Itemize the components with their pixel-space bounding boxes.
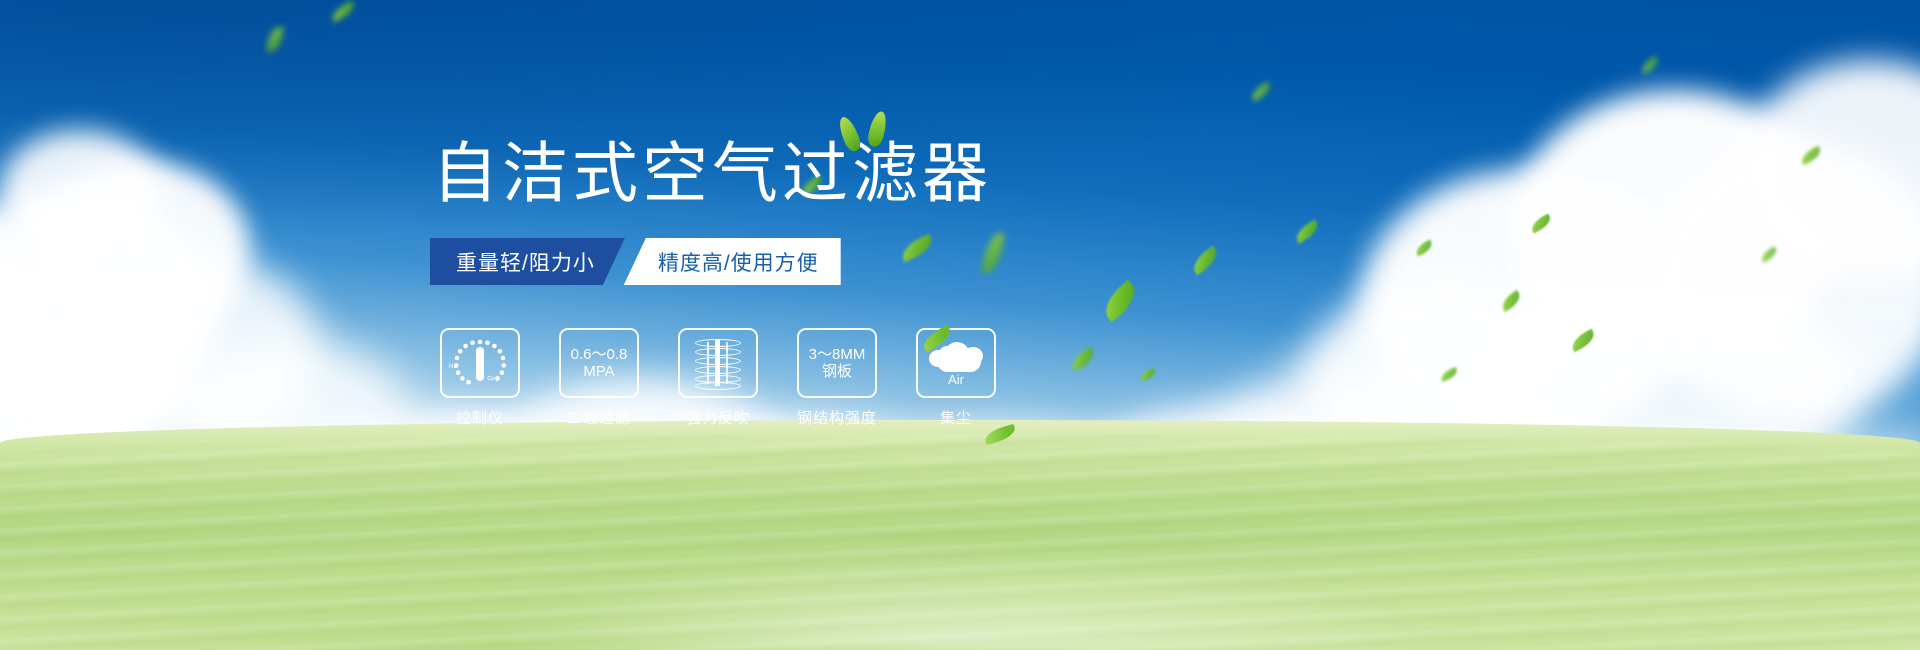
feature-icon-box: NO OFF [440, 328, 520, 398]
feature-caption: 集尘 [940, 407, 972, 428]
gauge-needle [476, 347, 484, 381]
banner-content: 自洁式空气过滤器 重量轻/阻力小 精度高/使用方便 [0, 0, 1920, 650]
gauge-label-on: NO [449, 364, 459, 370]
feature-item-controller[interactable]: NO OFF 控制仪 [437, 328, 523, 428]
title-leaf-decoration [840, 108, 900, 152]
feature-item-back-blow[interactable]: 强力反吹 [675, 328, 761, 428]
air-label: Air [925, 372, 987, 387]
page-title: 自洁式空气过滤器 [432, 140, 992, 206]
pressure-value-line2: MPA [583, 363, 614, 380]
feature-item-dust-collection[interactable]: Air 集尘 [913, 328, 999, 428]
hero-banner: 自洁式空气过滤器 重量轻/阻力小 精度高/使用方便 [0, 0, 1920, 650]
leaf-icon [866, 110, 889, 149]
feature-caption: 强力反吹 [686, 407, 750, 428]
leaf-icon [836, 115, 863, 154]
feature-caption: 二级过滤 [567, 407, 631, 428]
feature-item-steel-strength[interactable]: 3～8MM 钢板 钢结构强度 [794, 328, 880, 428]
coil-filter-icon [695, 337, 741, 389]
feature-icon-box [678, 328, 758, 398]
steel-value-line1: 3～8MM [809, 346, 866, 363]
feature-list: NO OFF 控制仪 0.6～0.8 MPA 二级过滤 [437, 328, 999, 428]
feature-icon-box: 3～8MM 钢板 [797, 328, 877, 398]
subtitle-tab-primary[interactable]: 重量轻/阻力小 [430, 238, 625, 285]
steel-value-line2: 钢板 [822, 363, 852, 380]
leaf-icon [983, 424, 1017, 445]
feature-caption: 控制仪 [456, 407, 504, 428]
cloud-air-icon: Air [925, 338, 987, 388]
feature-icon-box: Air [916, 328, 996, 398]
subtitle-tab-secondary[interactable]: 精度高/使用方便 [624, 238, 841, 285]
gauge-icon: NO OFF [450, 337, 510, 389]
feature-item-two-stage-filter[interactable]: 0.6～0.8 MPA 二级过滤 [556, 328, 642, 428]
subtitle-tabs: 重量轻/阻力小 精度高/使用方便 [430, 238, 841, 285]
feature-icon-box: 0.6～0.8 MPA [559, 328, 639, 398]
pressure-value-line1: 0.6～0.8 [571, 346, 628, 363]
feature-caption: 钢结构强度 [797, 407, 877, 428]
